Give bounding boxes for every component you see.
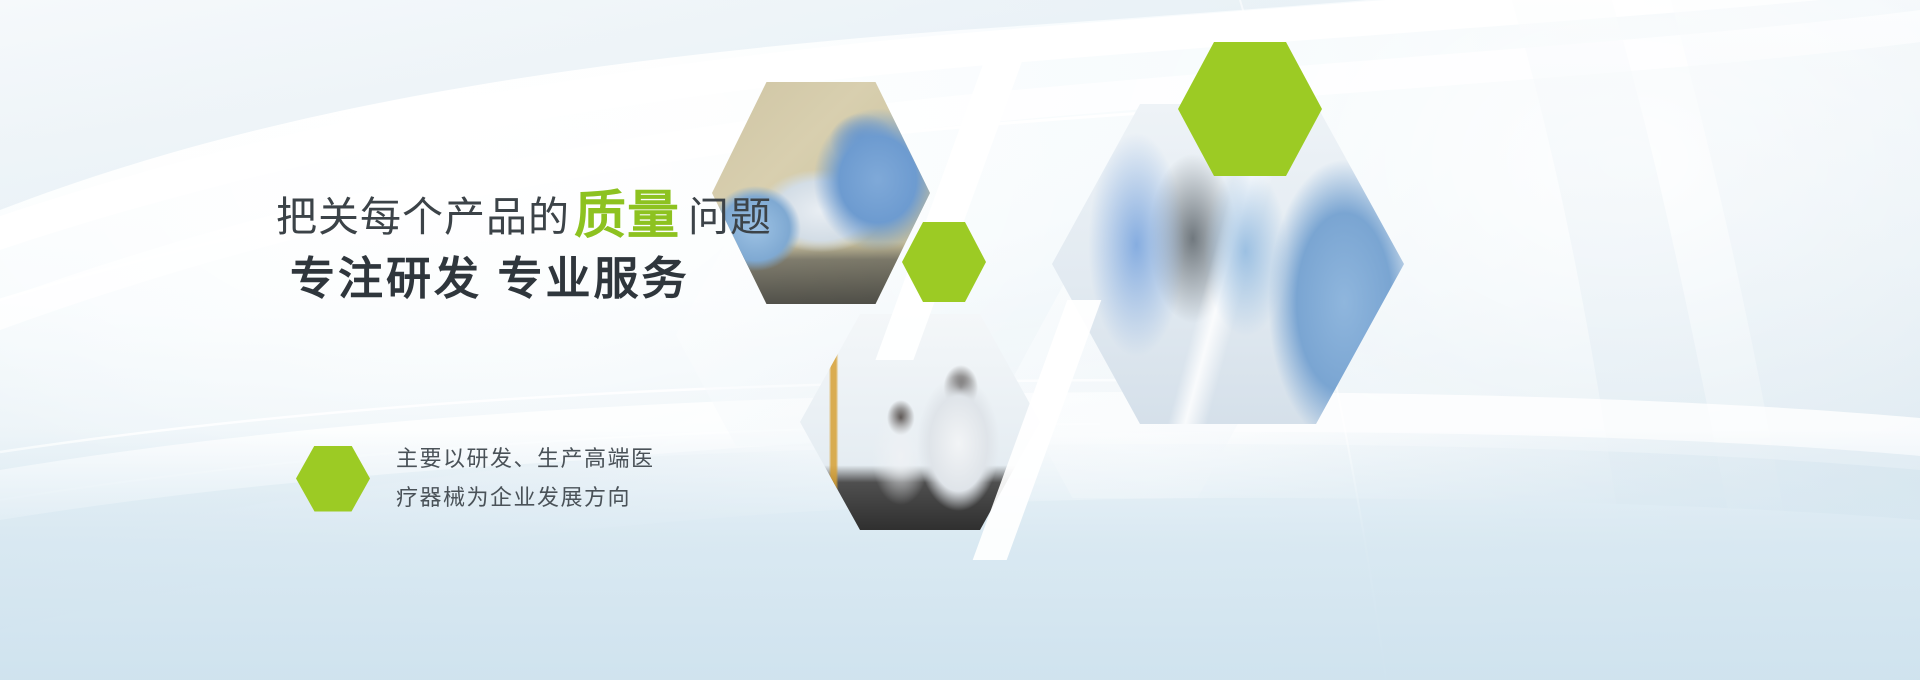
banner-description: 主要以研发、生产高端医 疗器械为企业发展方向 xyxy=(396,440,655,517)
description-line-2: 疗器械为企业发展方向 xyxy=(396,479,655,518)
hexagon-bullet-icon xyxy=(296,446,370,512)
headline-accent: 质量 xyxy=(574,190,680,242)
description-line-1: 主要以研发、生产高端医 xyxy=(396,440,655,479)
banner-subheadline: 专注研发 专业服务 xyxy=(290,254,916,304)
banner-description-row: 主要以研发、生产高端医 疗器械为企业发展方向 xyxy=(296,440,655,517)
banner-text-block: 把关每个产品的 质量 问题 专注研发 专业服务 xyxy=(276,188,916,304)
hero-banner: 把关每个产品的 质量 问题 专注研发 专业服务 主要以研发、生产高端医 疗器械为… xyxy=(0,0,1920,680)
headline-tail: 问题 xyxy=(688,197,772,238)
headline-lead: 把关每个产品的 xyxy=(276,197,570,238)
banner-headline: 把关每个产品的 质量 问题 xyxy=(276,188,916,240)
